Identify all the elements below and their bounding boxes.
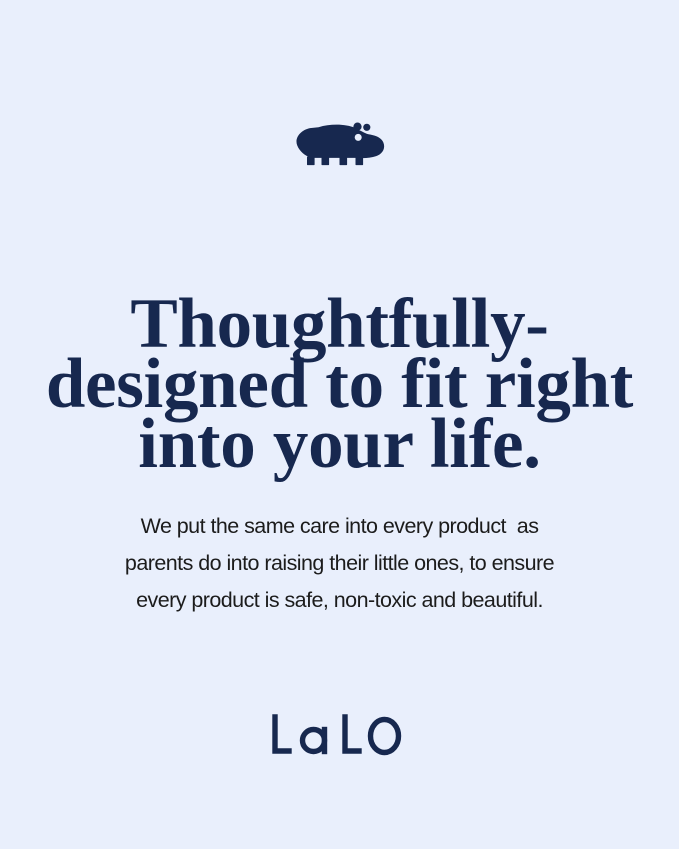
marketing-card: Thoughtfully- designed to fit right into… <box>0 0 679 849</box>
headline-line-3: into your life. <box>40 414 639 474</box>
body-line-1: We put the same care into every product … <box>60 508 619 545</box>
lalo-wordmark: LALO <box>270 712 410 762</box>
body-line-2: parents do into raising their little one… <box>60 545 619 582</box>
body-line-3: every product is safe, non-toxic and bea… <box>60 582 619 619</box>
headline: Thoughtfully- designed to fit right into… <box>0 294 679 474</box>
hippo-icon <box>295 120 385 170</box>
body-copy: We put the same care into every product … <box>0 508 679 619</box>
